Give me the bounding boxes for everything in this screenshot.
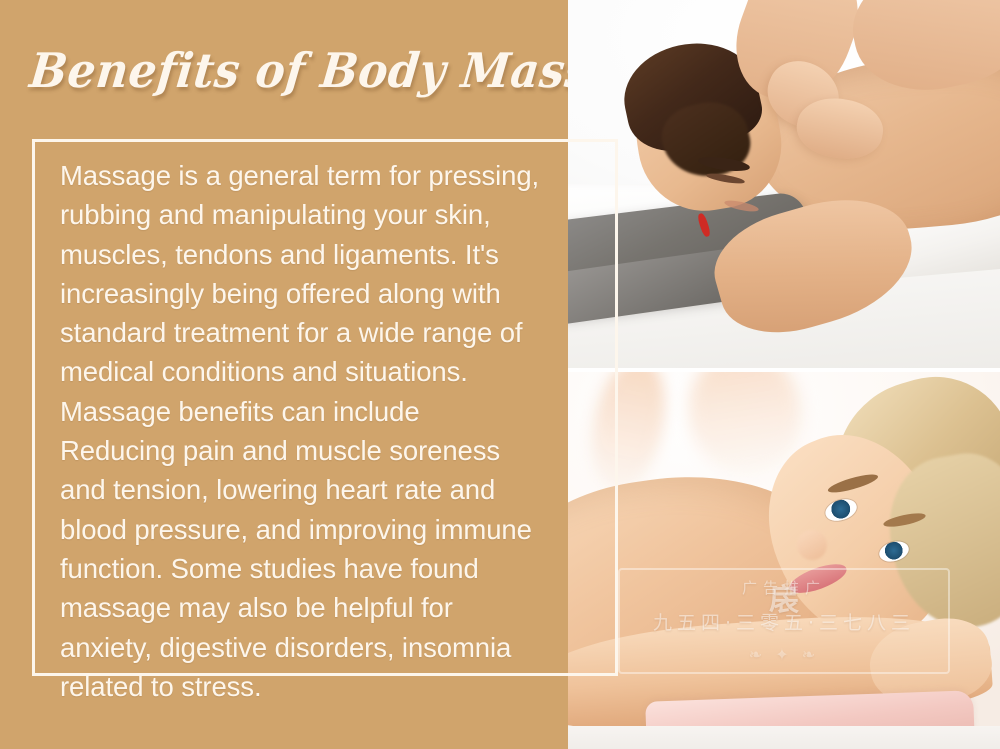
photo-woman-table-edge	[568, 726, 1000, 749]
page-title: Benefits of Body Massage	[26, 33, 574, 111]
photo-woman-spa: 扆 广告推广 九五四·三零五·三七八三 ❧ ✦ ❧ Smiling blonde…	[568, 372, 1000, 749]
body-paragraph: Massage is a general term for pressing, …	[60, 156, 540, 706]
photo-column: Man lying face down on a white massage t…	[568, 0, 1000, 749]
photo-man-back-massage: Man lying face down on a white massage t…	[568, 0, 1000, 368]
photo-woman-content	[568, 372, 1000, 749]
poster-root: Benefits of Body Massage Massage is a ge…	[0, 0, 1000, 749]
photo-man-content	[568, 0, 1000, 368]
